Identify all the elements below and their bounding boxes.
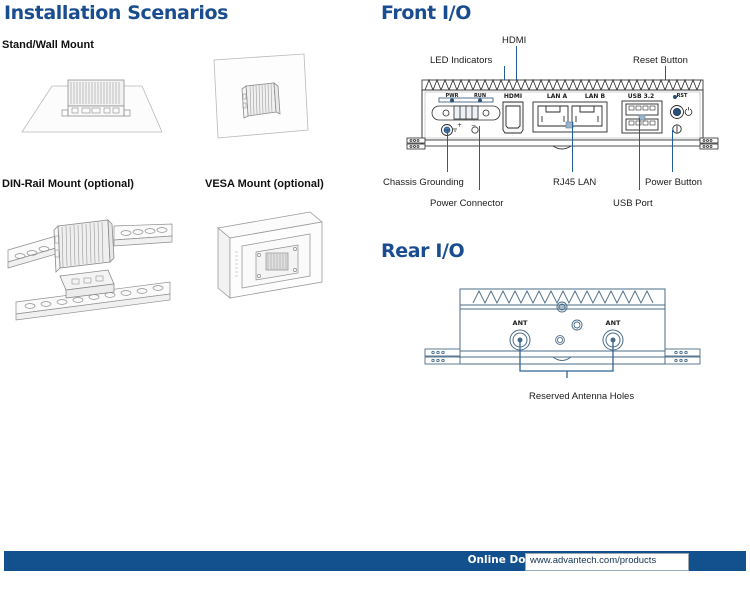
svg-text:LAN A: LAN A	[547, 93, 568, 100]
front-io-title: Front I/O	[381, 2, 471, 24]
callout-rj45-lan: RJ45 LAN	[553, 177, 596, 188]
callout-power-button: Power Button	[645, 177, 702, 188]
svg-text:HDMI: HDMI	[504, 93, 522, 100]
callout-power-connector: Power Connector	[430, 198, 503, 209]
callout-reserved-antenna-holes: Reserved Antenna Holes	[529, 391, 634, 402]
stand-wall-mount-illustration	[16, 58, 166, 138]
leader-usb-port	[639, 118, 640, 190]
svg-text:LAN B: LAN B	[585, 93, 606, 100]
callout-reset-button: Reset Button	[633, 55, 688, 66]
svg-text:RST: RST	[677, 93, 688, 99]
leader-power-connector	[479, 126, 480, 190]
datasheet-page: Installation Scenarios Stand/Wall Mount	[0, 0, 750, 591]
din-rail-mount-label: DIN-Rail Mount (optional)	[2, 178, 134, 190]
leader-power-button	[672, 130, 673, 172]
leader-chassis-grounding	[447, 130, 448, 172]
svg-text:ANT: ANT	[513, 319, 528, 327]
callout-led-indicators: LED Indicators	[430, 55, 492, 66]
vesa-mount-illustration	[210, 200, 330, 310]
svg-text:USB 3.2: USB 3.2	[628, 93, 654, 100]
vesa-mount-label: VESA Mount (optional)	[205, 178, 324, 190]
svg-text:+: +	[457, 122, 462, 129]
leader-rj45-lan	[572, 122, 573, 172]
rear-io-panel-illustration: ANT ANT	[405, 283, 720, 378]
din-rail-mount-illustration	[4, 200, 179, 325]
online-download-url[interactable]: www.advantech.com/products	[530, 555, 656, 566]
rear-io-title: Rear I/O	[381, 240, 464, 262]
callout-chassis-grounding: Chassis Grounding	[383, 177, 464, 188]
installation-scenarios-title: Installation Scenarios	[4, 2, 228, 24]
wall-mount-illustration	[200, 50, 320, 145]
callout-hdmi: HDMI	[502, 35, 526, 46]
stand-wall-mount-label: Stand/Wall Mount	[2, 39, 94, 51]
callout-usb-port: USB Port	[613, 198, 653, 209]
svg-text:ANT: ANT	[606, 319, 621, 327]
